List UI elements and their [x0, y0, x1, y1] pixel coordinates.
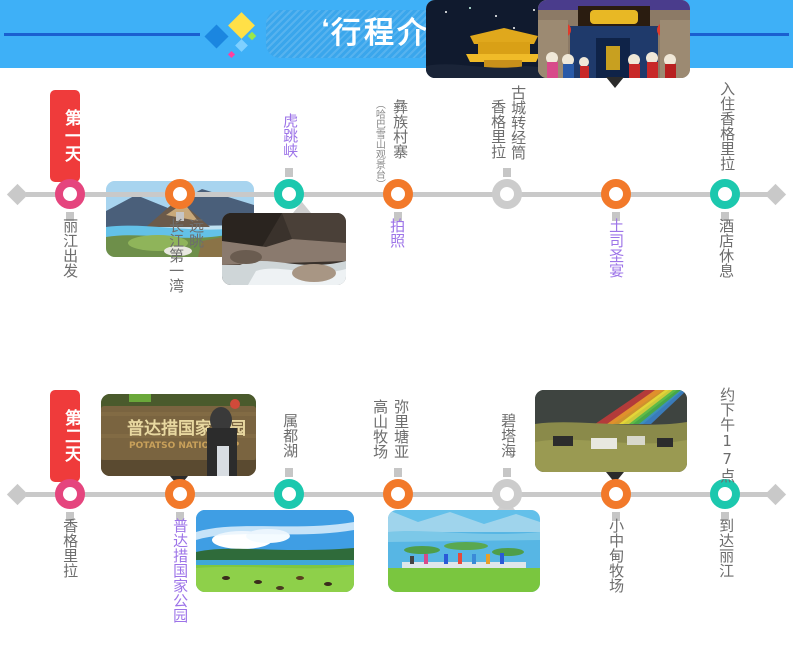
timeline-node-day2-4[interactable] — [383, 479, 413, 509]
label-below-xiaozhongdian-pasture: 小中甸牧场 — [608, 518, 624, 593]
day-2-axis — [10, 490, 783, 498]
timeline-node-day1-2[interactable] — [165, 179, 195, 209]
day-1-badge: 第一天 — [50, 90, 80, 182]
day-1-timeline: 第一天 — [0, 85, 793, 315]
label-below-changjiang-first-bend: 长江第一湾 — [168, 218, 184, 293]
node-stub-day1-3 — [285, 168, 293, 177]
label-above-bita-lake: 碧塔海 — [500, 413, 516, 458]
timeline-node-day2-1[interactable] — [55, 479, 85, 509]
label-below-hotel-rest: 酒店休息 — [718, 218, 734, 278]
label-below-shangri-la: 香格里拉 — [62, 518, 78, 578]
node-stub-day2-5 — [503, 468, 511, 477]
axis-cap-left-day2 — [7, 484, 28, 505]
label-below-distant-view: 远眺 — [188, 218, 204, 248]
node-stub-day1-5 — [503, 168, 511, 177]
timeline-node-day2-3[interactable] — [274, 479, 304, 509]
label-below-tusi-feast: 土司圣宴 — [608, 218, 624, 278]
timeline-node-day1-7[interactable] — [710, 179, 740, 209]
banner-rule-left — [4, 33, 200, 36]
quote-open-icon: ❛ — [321, 18, 329, 40]
label-above-alpine-pasture: 高山牧场 — [372, 399, 388, 459]
timeline-node-day1-1[interactable] — [55, 179, 85, 209]
label-below-take-photo: 拍照 — [389, 218, 405, 248]
timeline-node-day1-5[interactable] — [492, 179, 522, 209]
timeline-node-day1-4[interactable] — [383, 179, 413, 209]
label-above-tiger-leaping-gorge: 虎跳峡 — [282, 113, 298, 158]
timeline-node-day2-6[interactable] — [601, 479, 631, 509]
timeline-node-day2-7[interactable] — [710, 479, 740, 509]
day-1-axis — [10, 190, 783, 198]
day-2-badge: 第二天 — [50, 390, 80, 482]
label-above-yi-village: 彝族村寨 — [392, 99, 408, 159]
axis-cap-left-day1 — [7, 184, 28, 205]
node-stub-day2-3 — [285, 468, 293, 477]
photo-tusi-feast-gate — [538, 0, 690, 78]
day-2-timeline: 第二天 普达措国家公园 POTATSO NATIONAL P — [0, 385, 793, 645]
timeline-node-day1-6[interactable] — [601, 179, 631, 209]
photo-pointer-tusi — [606, 77, 624, 88]
node-stub-day2-4 — [394, 468, 402, 477]
label-below-arrive-lijiang: 到达丽江 — [718, 518, 734, 578]
label-above-ancient-town-prayer-wheel: 古城转经筒 — [510, 85, 526, 160]
label-above-checkin-shangri-la: 入住香格里拉 — [719, 81, 735, 171]
axis-cap-right-day2 — [765, 484, 786, 505]
timeline-node-day2-2[interactable] — [165, 479, 195, 509]
label-above-haba-viewpoint-note: （哈巴雪山观景台） — [373, 99, 384, 189]
label-above-militang: 弥里塘亚 — [393, 399, 409, 459]
label-above-about-17-oclock: 约下午17点 — [719, 387, 735, 483]
axis-cap-right-day1 — [765, 184, 786, 205]
label-above-shudu-lake: 属都湖 — [282, 413, 298, 458]
photo-pudacuo-park-sign: 普达措国家公园 POTATSO NATIONAL P — [101, 394, 256, 476]
label-below-pudacuo-national-park: 普达措国家公园 — [172, 518, 188, 623]
label-below-depart-lijiang: 丽江出发 — [62, 218, 78, 278]
photo-bita-lake-boardwalk — [388, 510, 540, 592]
label-above-shangri-la: 香格里拉 — [490, 99, 506, 159]
timeline-node-day1-3[interactable] — [274, 179, 304, 209]
photo-tiger-leaping-gorge — [222, 213, 346, 285]
photo-xiaozhongdian-rainbow — [535, 390, 687, 472]
timeline-node-day2-5[interactable] — [492, 479, 522, 509]
photo-shudu-lake-meadow — [196, 510, 354, 592]
